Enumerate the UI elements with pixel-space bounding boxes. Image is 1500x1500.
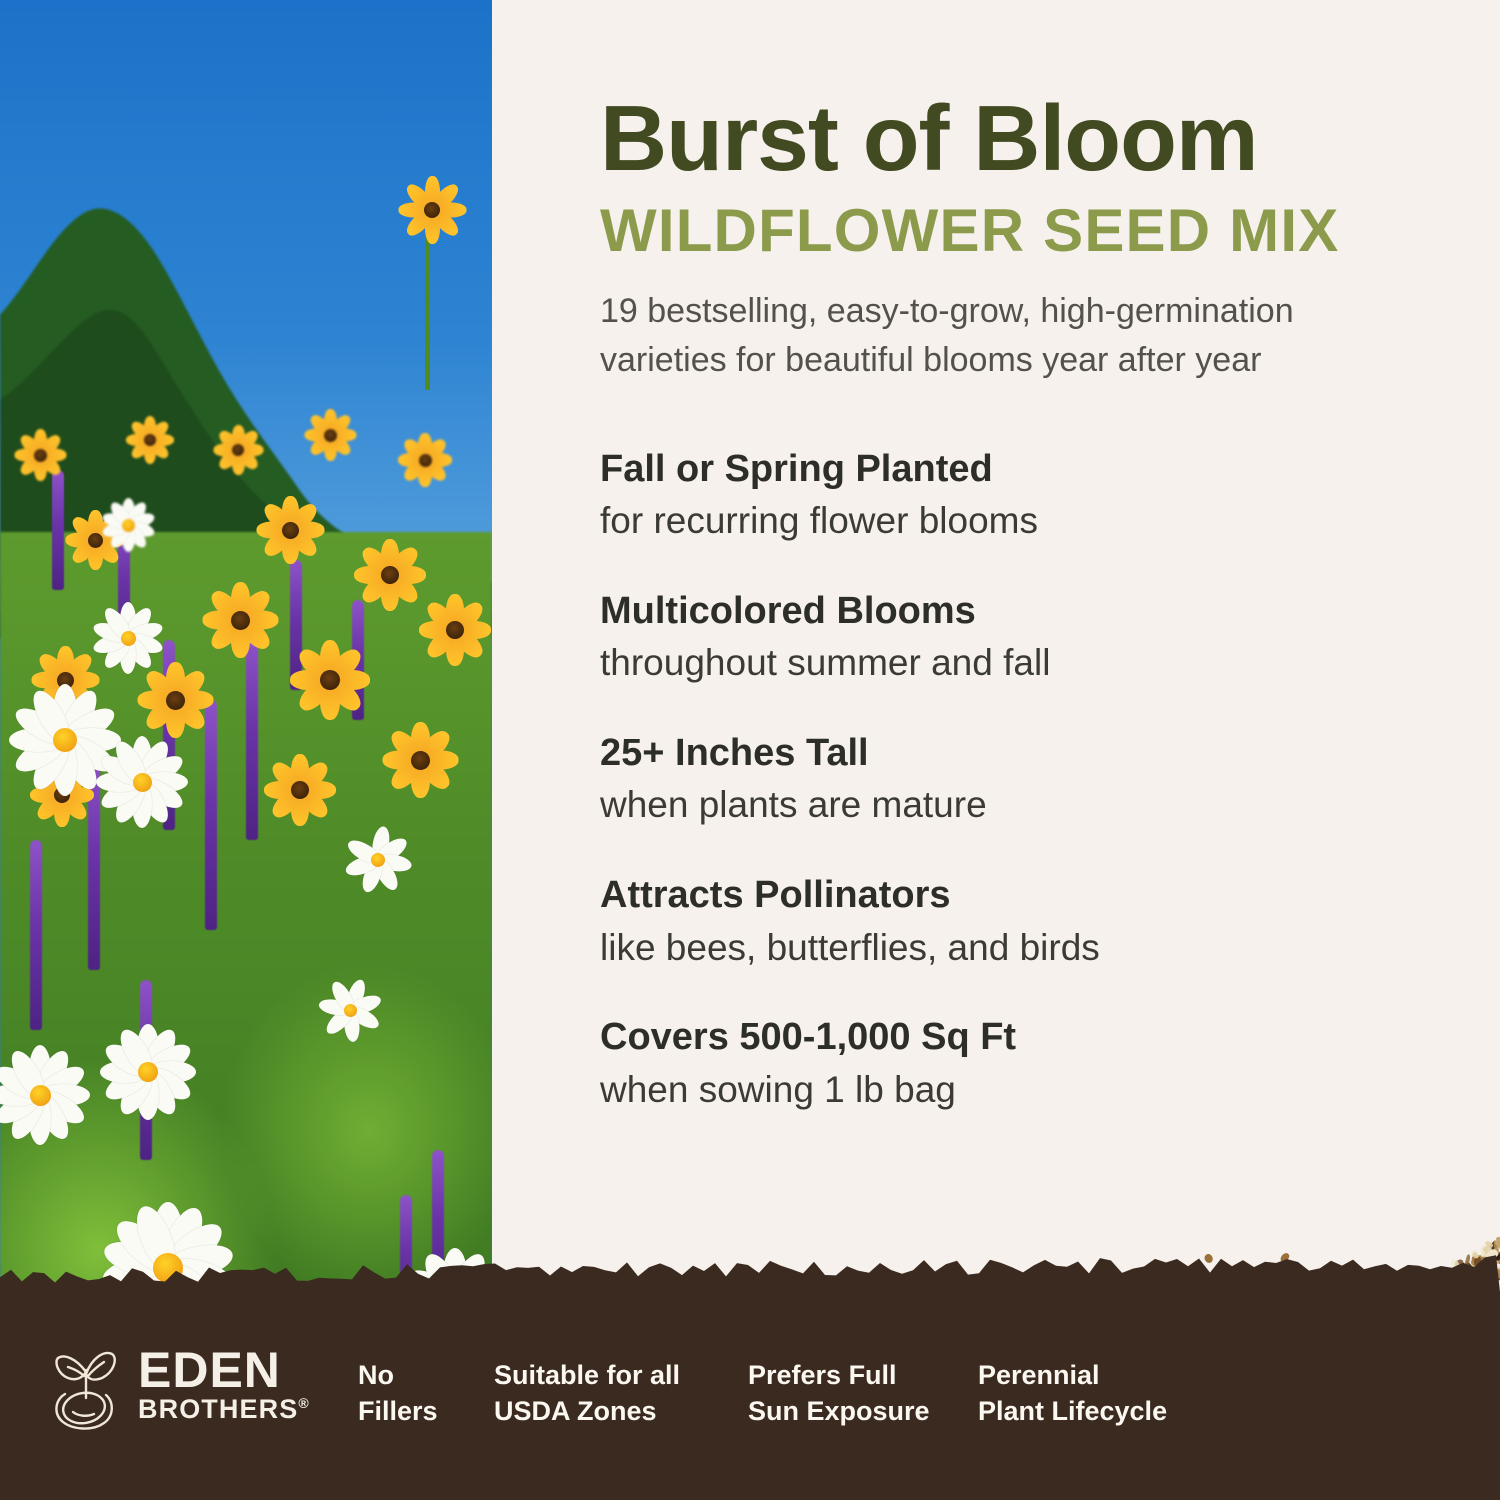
- seed: [1422, 1273, 1430, 1281]
- seed: [1428, 1277, 1439, 1288]
- seed: [1464, 1254, 1471, 1267]
- feature-item: Fall or Spring Planted for recurring flo…: [600, 448, 1440, 544]
- seed: [1479, 1251, 1494, 1267]
- badge-plant-lifecycle: Perennial Plant Lifecycle: [978, 1358, 1167, 1429]
- badge-no-fillers: No Fillers: [358, 1358, 438, 1429]
- feature-heading: Fall or Spring Planted: [600, 448, 1440, 492]
- seed: [1453, 1259, 1464, 1271]
- seed-chaff: [1497, 1251, 1500, 1271]
- page-title: Burst of Bloom: [600, 92, 1440, 185]
- seed: [1420, 1277, 1429, 1288]
- feature-item: Attracts Pollinators like bees, butterfl…: [600, 874, 1440, 970]
- product-info-panel: Burst of Bloom WILDFLOWER SEED MIX 19 be…: [600, 0, 1440, 1230]
- seed: [1492, 1256, 1500, 1265]
- feature-heading: Multicolored Blooms: [600, 590, 1440, 634]
- seed: [1475, 1276, 1483, 1285]
- seed: [1493, 1239, 1500, 1252]
- logo-wordmark: EDEN BROTHERS®: [138, 1347, 310, 1423]
- seed: [1471, 1249, 1479, 1258]
- seed: [1495, 1271, 1500, 1278]
- seed: [1496, 1272, 1500, 1280]
- seed: [1485, 1248, 1500, 1262]
- seed-chaff: [1486, 1278, 1490, 1292]
- seed: [1466, 1274, 1479, 1287]
- seed: [1495, 1281, 1500, 1292]
- seed: [1471, 1265, 1480, 1276]
- eden-brothers-logo[interactable]: EDEN BROTHERS®: [46, 1340, 310, 1430]
- feature-item: 25+ Inches Tall when plants are mature: [600, 732, 1440, 828]
- seed: [1474, 1263, 1485, 1274]
- seed: [1451, 1273, 1461, 1283]
- seed: [1481, 1245, 1487, 1254]
- seed: [1489, 1239, 1500, 1251]
- feature-subtext: like bees, butterflies, and birds: [600, 926, 1440, 970]
- feature-item: Covers 500-1,000 Sq Ft when sowing 1 lb …: [600, 1016, 1440, 1112]
- seed: [1483, 1277, 1492, 1282]
- seed: [1432, 1272, 1445, 1286]
- seed: [1451, 1278, 1458, 1289]
- sprouting-seed-icon: [46, 1340, 124, 1430]
- purple-spike-flower: [52, 470, 64, 590]
- seed: [1492, 1252, 1500, 1261]
- seed: [1424, 1270, 1439, 1286]
- seed: [1494, 1268, 1500, 1278]
- seed: [1441, 1281, 1449, 1289]
- seed: [1429, 1283, 1440, 1291]
- stray-seed: [1279, 1251, 1291, 1263]
- seed: [1494, 1240, 1500, 1253]
- seed: [1456, 1264, 1462, 1271]
- seed: [1450, 1275, 1462, 1287]
- seed: [1483, 1256, 1497, 1268]
- seed: [1479, 1260, 1490, 1270]
- seed: [1492, 1240, 1500, 1247]
- seed: [1485, 1240, 1494, 1249]
- badge-sun-exposure: Prefers Full Sun Exposure: [748, 1358, 930, 1429]
- blurb-line-2: varieties for beautiful blooms year afte…: [600, 341, 1261, 379]
- seed: [1480, 1262, 1489, 1272]
- seed: [1437, 1274, 1443, 1283]
- stray-seed: [1202, 1252, 1214, 1265]
- seed: [1495, 1236, 1500, 1242]
- seed: [1430, 1278, 1444, 1292]
- product-blurb: 19 bestselling, easy-to-grow, high-germi…: [600, 287, 1440, 386]
- footer-bar: EDEN BROTHERS® No Fillers Suitable for a…: [0, 1292, 1500, 1500]
- seed: [1413, 1276, 1424, 1287]
- wildflower-meadow-photo: [0, 0, 492, 1330]
- seed: [1491, 1275, 1500, 1283]
- seed: [1468, 1265, 1479, 1276]
- seed: [1489, 1250, 1496, 1257]
- seed: [1472, 1256, 1484, 1270]
- seed: [1456, 1276, 1463, 1284]
- seed: [1464, 1261, 1473, 1270]
- seed-chaff: [1496, 1284, 1500, 1292]
- feature-subtext: when plants are mature: [600, 783, 1440, 827]
- seed: [1421, 1280, 1428, 1290]
- seed: [1482, 1244, 1495, 1258]
- seed: [1458, 1286, 1467, 1292]
- seed: [1470, 1253, 1484, 1268]
- feature-heading: 25+ Inches Tall: [600, 732, 1440, 776]
- logo-eden-text: EDEN: [138, 1347, 310, 1393]
- feature-item: Multicolored Blooms throughout summer an…: [600, 590, 1440, 686]
- seed: [1484, 1278, 1493, 1291]
- seed: [1495, 1268, 1500, 1280]
- product-feature-card: Burst of Bloom WILDFLOWER SEED MIX 19 be…: [0, 0, 1500, 1500]
- seed: [1479, 1248, 1489, 1258]
- product-subtitle: WILDFLOWER SEED MIX: [600, 201, 1440, 261]
- purple-spike-flower: [246, 640, 258, 840]
- registered-mark: ®: [298, 1395, 309, 1411]
- seed: [1489, 1273, 1496, 1281]
- seed: [1486, 1251, 1499, 1263]
- seed: [1433, 1283, 1439, 1288]
- purple-spike-flower: [205, 700, 217, 930]
- stray-seed: [1177, 1271, 1186, 1280]
- feature-subtext: throughout summer and fall: [600, 641, 1440, 685]
- seed: [1471, 1254, 1484, 1263]
- blurb-line-1: 19 bestselling, easy-to-grow, high-germi…: [600, 292, 1294, 330]
- purple-spike-flower: [30, 840, 42, 1030]
- feature-heading: Attracts Pollinators: [600, 874, 1440, 918]
- badge-usda-zones: Suitable for all USDA Zones: [494, 1358, 680, 1429]
- seed: [1496, 1268, 1500, 1276]
- seed: [1471, 1251, 1480, 1260]
- seed: [1470, 1274, 1484, 1286]
- seed: [1459, 1273, 1465, 1282]
- seed: [1451, 1258, 1460, 1268]
- seed: [1495, 1271, 1500, 1277]
- seed: [1488, 1258, 1497, 1267]
- feature-subtext: for recurring flower blooms: [600, 499, 1440, 543]
- feature-subtext: when sowing 1 lb bag: [600, 1068, 1440, 1112]
- seed: [1419, 1271, 1432, 1284]
- seed: [1468, 1275, 1480, 1287]
- seed: [1487, 1277, 1497, 1290]
- logo-brothers-label: BROTHERS: [138, 1394, 298, 1424]
- feature-heading: Covers 500-1,000 Sq Ft: [600, 1016, 1440, 1060]
- logo-brothers-text: BROTHERS®: [138, 1396, 310, 1423]
- seed-chaff: [1468, 1272, 1485, 1278]
- seed: [1456, 1280, 1461, 1284]
- seed: [1464, 1283, 1469, 1288]
